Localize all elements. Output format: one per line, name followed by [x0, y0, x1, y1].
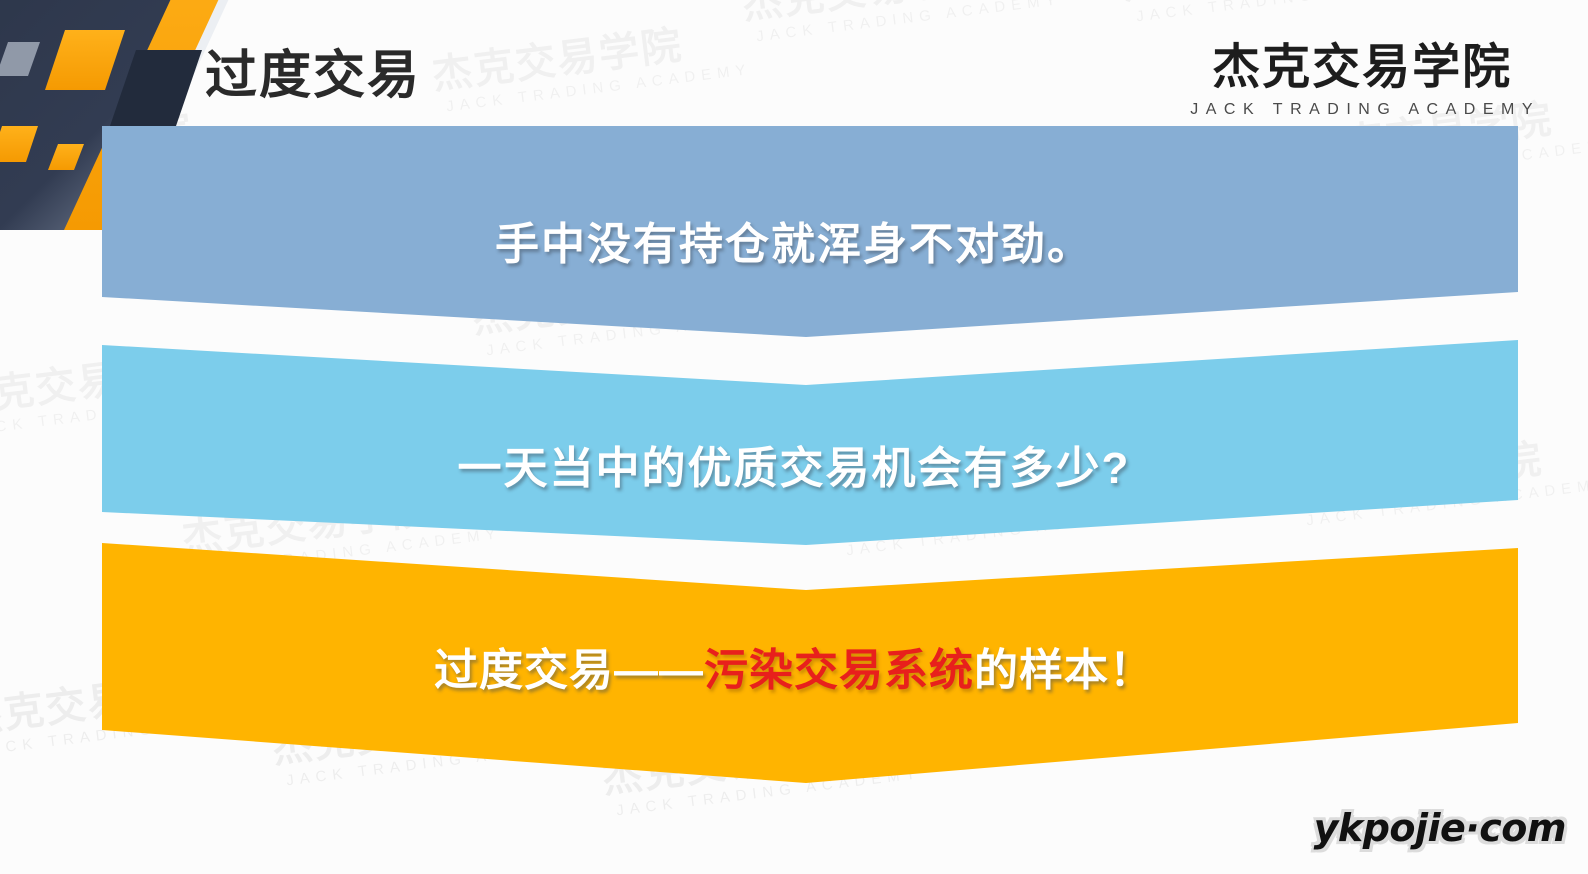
- band-3-text: 过度交易——污染交易系统的样本！: [0, 634, 1588, 698]
- brand-name-en: JACK TRADING ACADEMY: [1190, 101, 1540, 119]
- band-3-text-before: 过度交易——: [434, 646, 704, 695]
- band-3-text-after: 的样本！: [974, 646, 1154, 695]
- slide-canvas: 杰克交易学院 JACK TRADING ACADEMY 杰克交易学院 JACK …: [0, 0, 1588, 874]
- band-3-text-highlight: 污染交易系统: [704, 646, 974, 695]
- brand-name-cn: 杰克交易学院: [1184, 44, 1540, 92]
- band-1-text: 手中没有持仓就浑身不对劲。: [0, 208, 1588, 272]
- page-title: 过度交易: [205, 50, 421, 102]
- brand-logo: 杰克交易学院 JACK TRADING ACADEMY: [1184, 44, 1540, 119]
- band-2-text: 一天当中的优质交易机会有多少?: [0, 432, 1588, 496]
- site-watermark: ykpojie·com: [1314, 806, 1566, 850]
